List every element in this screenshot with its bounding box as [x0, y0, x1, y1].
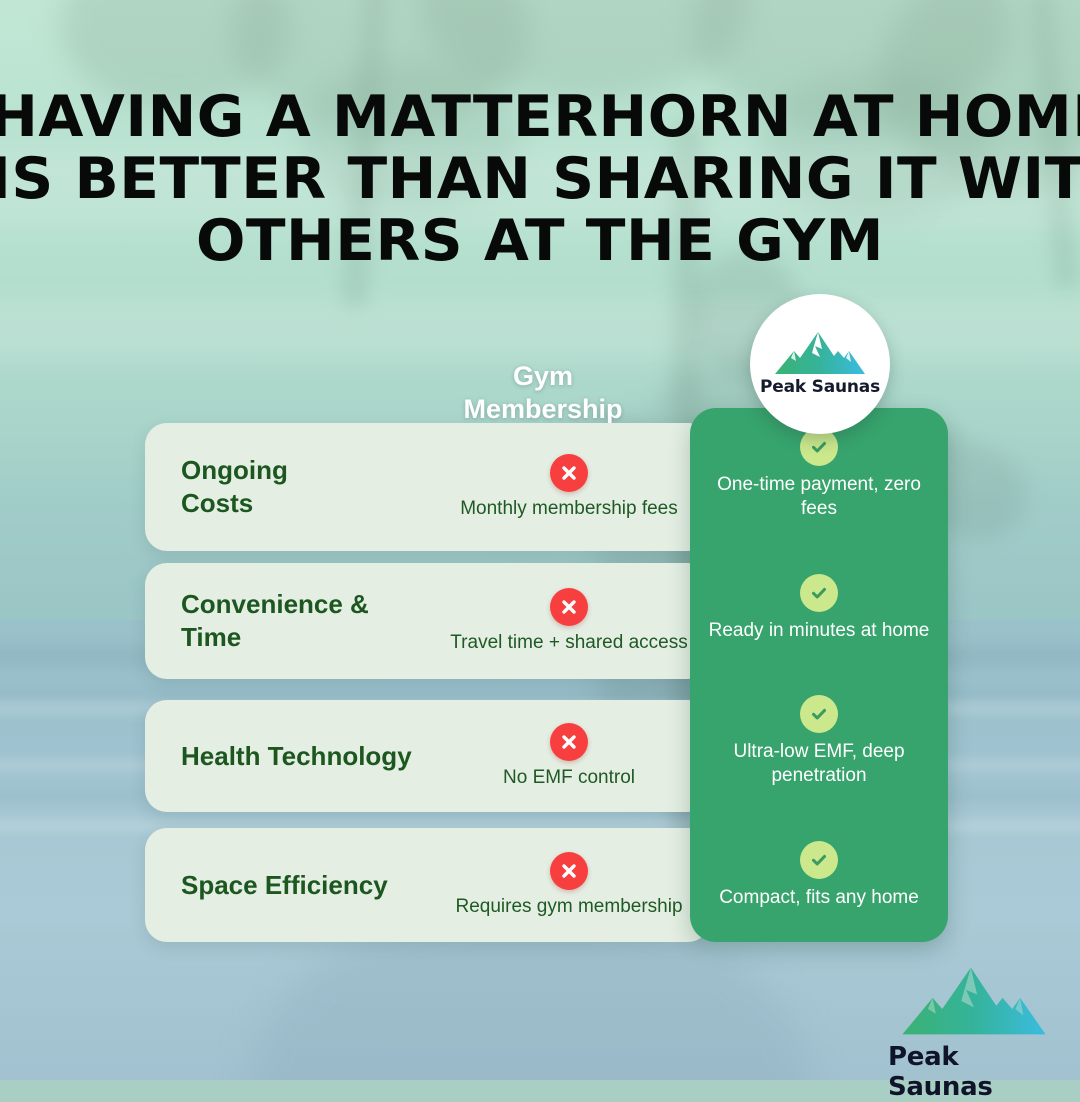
- panel-cell: Ultra-low EMF, deep penetration: [690, 675, 948, 809]
- row-label-line-1: Ongoing: [181, 454, 450, 487]
- brand-badge: Peak Saunas: [750, 294, 890, 434]
- brand-wordmark: Peak Saunas: [888, 1042, 1060, 1102]
- row-gym-text: Travel time + shared access: [450, 631, 687, 655]
- row-label: Ongoing Costs: [145, 454, 450, 520]
- panel-cell-text: Ready in minutes at home: [709, 619, 930, 643]
- table-row: Ongoing Costs Monthly membership fees: [145, 423, 710, 551]
- infographic-content: HAVING A MATTERHORN AT HOME IS BETTER TH…: [0, 0, 1080, 1080]
- footer-logo: Peak Saunas: [888, 966, 1060, 1102]
- mountain-icon: [774, 331, 866, 375]
- check-circle-icon: [800, 841, 838, 879]
- panel-cell-text: Compact, fits any home: [719, 886, 919, 910]
- mountain-icon: [898, 966, 1050, 1041]
- brand-wordmark: Peak Saunas: [760, 377, 880, 397]
- panel-cell-text: One-time payment, zero fees: [704, 473, 934, 521]
- x-circle-icon: [550, 852, 588, 890]
- row-label-line-2: Costs: [181, 487, 450, 520]
- x-circle-icon: [550, 588, 588, 626]
- peak-saunas-column: One-time payment, zero fees Ready in min…: [690, 408, 948, 942]
- row-gym-text: Requires gym membership: [455, 895, 682, 919]
- table-row: Space Efficiency Requires gym membership: [145, 828, 710, 942]
- row-gym-cell: Requires gym membership: [450, 852, 710, 919]
- row-label-line-1: Space Efficiency: [181, 869, 450, 902]
- x-circle-icon: [550, 723, 588, 761]
- panel-cell-text: Ultra-low EMF, deep penetration: [704, 740, 934, 788]
- row-label-line-2: Time: [181, 621, 450, 654]
- table-row: Health Technology No EMF control: [145, 700, 710, 812]
- row-label-line-1: Health Technology: [181, 740, 450, 773]
- row-label: Convenience & Time: [145, 588, 450, 654]
- panel-cell: Ready in minutes at home: [690, 542, 948, 676]
- panel-cell: Compact, fits any home: [690, 809, 948, 943]
- row-gym-cell: No EMF control: [450, 723, 710, 790]
- check-circle-icon: [800, 695, 838, 733]
- x-circle-icon: [550, 454, 588, 492]
- row-label: Health Technology: [145, 740, 450, 773]
- row-gym-cell: Travel time + shared access: [450, 588, 710, 655]
- table-row: Convenience & Time Travel time + shared …: [145, 563, 710, 679]
- row-gym-text: Monthly membership fees: [460, 497, 678, 521]
- row-gym-text: No EMF control: [503, 766, 635, 790]
- row-gym-cell: Monthly membership fees: [450, 454, 710, 521]
- row-label-line-1: Convenience &: [181, 588, 450, 621]
- check-circle-icon: [800, 574, 838, 612]
- row-label: Space Efficiency: [145, 869, 450, 902]
